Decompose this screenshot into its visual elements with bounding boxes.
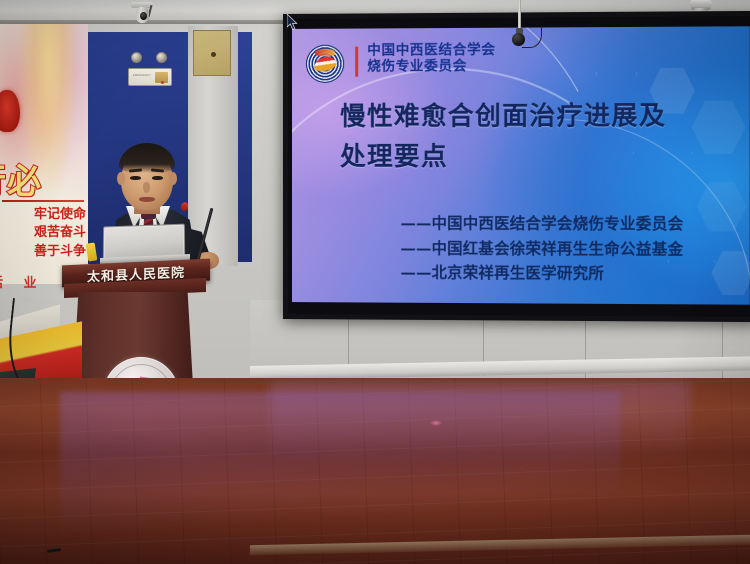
microphone-rod [518,0,521,30]
association-name: 中国中西医结合学会 烧伤专业委员会 [367,43,495,76]
slide-title-line1: 慢性难愈合创面治疗进展及 [340,96,743,138]
banner-emblem-icon [0,90,20,132]
slide-title-line2: 处理要点 [340,137,743,178]
speaker-eye-right [152,176,163,180]
banner-slogan-list: 牢记使命 艰苦奋斗 善于斗争 [0,206,88,261]
slide-subtitle-3: ——北京荣祥再生医学研究所 [401,261,748,288]
association-name-line2: 烧伤专业委员会 [367,59,495,76]
microphone-capsule [512,33,525,46]
ceiling-camera-left-icon [131,2,153,28]
projection-screen-display: 中国中西医结合学会 烧伤专业委员会 慢性难愈合创面治疗进展及 处理要点 ——中国… [292,26,750,304]
emergency-lamp-left-icon [131,52,142,63]
slide-subtitle-1: ——中国中西医结合学会烧伤专业委员会 [401,211,748,237]
speaker-mouth [139,197,155,202]
hanging-microphone-icon [505,0,545,58]
logo-top-mark [315,49,335,56]
blue-wall-strip [236,32,252,262]
slide-subtitle-block: ——中国中西医结合学会烧伤专业委员会 ——中国红基会徐荣祥再生生命公益基金 ——… [401,211,748,287]
mouse-cursor[interactable] [287,14,299,31]
speaker-eye-left [130,176,141,180]
emergency-light-fixture: EMERGENCY [128,68,172,86]
banner-slogan-1: 牢记使命 [0,206,88,224]
speaker-nose [143,182,150,193]
speaker-ear-right [169,172,177,185]
utility-box-screw [211,52,216,57]
association-name-line1: 中国中西医结合学会 [367,43,495,60]
banner-slogan-2: 艰苦奋斗 [0,224,88,242]
banner-divider [2,200,84,202]
floor-screen-reflection [60,392,620,542]
photo-scene: EMERGENCY 行必 牢记使命 艰苦奋斗 善于斗争 活 业 [0,0,750,564]
association-logo-icon [306,45,344,83]
speaker-ear-left [117,172,125,185]
slide-hexagon-outline [596,51,637,96]
banner-slogan-3: 善于斗争 [0,243,88,261]
floor-debris-glint [430,420,442,426]
left-wall-banner: 行必 牢记使命 艰苦奋斗 善于斗争 活 业 [0,24,88,284]
banner-headline: 行必 [0,154,42,203]
emergency-light-indicator [161,81,164,84]
emergency-light-label: EMERGENCY [133,74,151,77]
emergency-lamp-right-icon [156,52,167,63]
camera-lens [140,12,147,20]
wall-utility-box [193,30,231,76]
speaker-hair [119,143,175,173]
slide-title: 慢性难愈合创面治疗进展及 处理要点 [340,96,743,178]
slide-subtitle-2: ——中国红基会徐荣祥再生生命公益基金 [401,236,748,262]
microphone-cable [522,26,542,48]
logo-divider-bar [355,47,358,77]
